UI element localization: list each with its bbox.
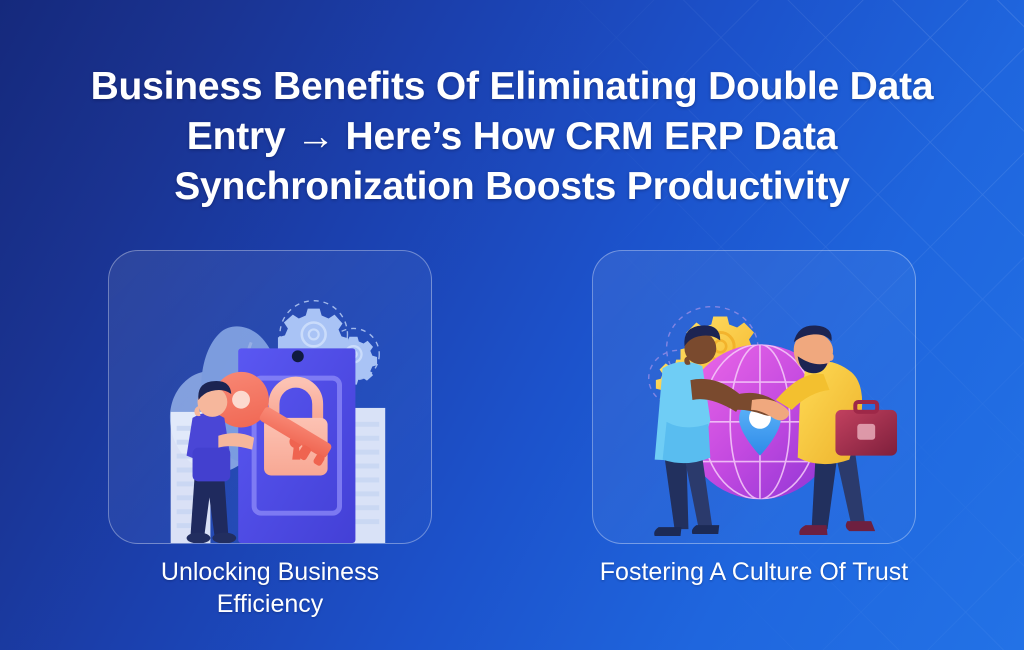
title-line-2: Entry → Here’s How CRM ERP Data: [187, 115, 837, 158]
caption-unlocking-business-efficiency: Unlocking Business Efficiency: [108, 556, 432, 620]
slide-canvas: Business Benefits Of Eliminating Double …: [0, 0, 1024, 650]
card-unlocking-business-efficiency[interactable]: [108, 250, 432, 546]
caption-row: Unlocking Business Efficiency Fostering …: [0, 556, 1024, 620]
card-fostering-a-culture-of-trust[interactable]: [592, 250, 916, 546]
illustration-card-left[interactable]: [108, 250, 432, 544]
illustration-card-row: [0, 250, 1024, 546]
dark-red-briefcase: [835, 402, 897, 456]
title-line-3: Synchronization Boosts Productivity: [174, 165, 850, 208]
key-and-padlock-security-illustration: [109, 251, 431, 543]
title-line-1: Business Benefits Of Eliminating Double …: [91, 65, 934, 108]
illustration-card-right[interactable]: [592, 250, 916, 544]
handshake-over-globe-trust-illustration: [593, 251, 915, 543]
page-title: Business Benefits Of Eliminating Double …: [0, 62, 1024, 212]
caption-fostering-a-culture-of-trust: Fostering A Culture Of Trust: [592, 556, 916, 620]
